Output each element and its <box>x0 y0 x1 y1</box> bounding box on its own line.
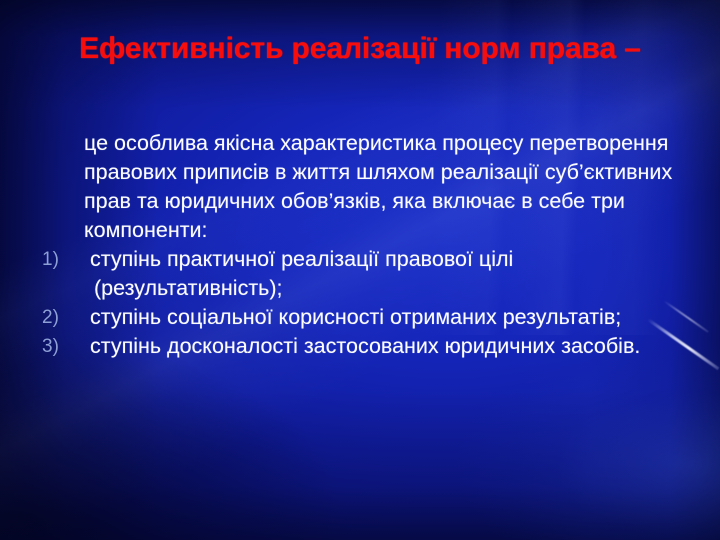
presentation-slide: Ефективність реалізації норм права – це … <box>0 0 720 540</box>
list-item: 2) ступінь соціальної корисності отриман… <box>36 303 684 332</box>
list-item-text: ступінь практичної реалізації правової ц… <box>84 245 684 303</box>
list-item: 3) ступінь досконалості застосованих юри… <box>36 332 684 361</box>
list-item-marker: 3) <box>42 332 76 361</box>
list-item-text: ступінь соціальної корисності отриманих … <box>84 303 684 332</box>
list-item-marker: 1) <box>42 245 76 274</box>
slide-body: це особлива якісна характеристика процес… <box>36 129 684 361</box>
slide-title: Ефективність реалізації норм права – <box>36 28 684 70</box>
lead-paragraph: це особлива якісна характеристика процес… <box>36 129 684 245</box>
list-item: 1) ступінь практичної реалізації правово… <box>36 245 684 303</box>
components-list: 1) ступінь практичної реалізації правово… <box>36 245 684 361</box>
list-item-marker: 2) <box>42 303 76 332</box>
list-item-text: ступінь досконалості застосованих юридич… <box>84 332 684 361</box>
